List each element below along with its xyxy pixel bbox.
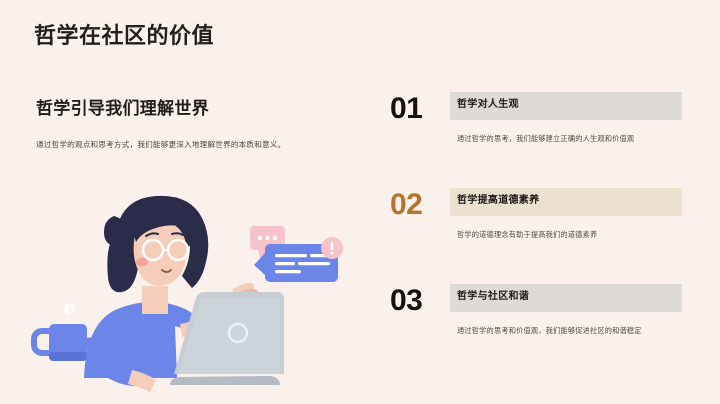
list-item[interactable]: 02 哲学提高道德素养 哲学的道德理念有助于提高我们的道德素养 (388, 188, 688, 284)
item-description: 哲学的道德理念有助于提高我们的道德素养 (457, 229, 675, 242)
left-heading: 哲学引导我们理解世界 (36, 98, 366, 121)
chat-bubble-group (250, 226, 343, 282)
left-body-text: 通过哲学的观点和思考方式，我们能够更深入地理解世界的本质和意义。 (36, 139, 366, 152)
slide-canvas: 哲学在社区的价值 哲学引导我们理解世界 通过哲学的观点和思考方式，我们能够更深入… (0, 0, 720, 404)
item-title: 哲学提高道德素养 (457, 195, 539, 207)
item-title: 哲学对人生观 (457, 99, 519, 111)
numbered-items-list: 01 哲学对人生观 通过哲学的思考，我们能够建立正确的人生观和价值观 02 哲学… (388, 92, 688, 380)
alert-badge-icon (321, 237, 343, 259)
left-content-column: 哲学引导我们理解世界 通过哲学的观点和思考方式，我们能够更深入地理解世界的本质和… (36, 98, 366, 152)
illustration-woman-at-laptop (22, 178, 367, 400)
item-description: 通过哲学的思考和价值观，我们能够促进社区的和谐稳定 (457, 325, 675, 338)
coffee-mug-icon (34, 302, 87, 361)
item-number: 03 (390, 286, 422, 316)
item-number: 01 (390, 94, 422, 124)
item-title: 哲学与社区和谐 (457, 291, 529, 303)
item-number: 02 (390, 190, 422, 220)
page-title: 哲学在社区的价值 (34, 22, 214, 51)
list-item[interactable]: 03 哲学与社区和谐 通过哲学的思考和价值观，我们能够促进社区的和谐稳定 (388, 284, 688, 380)
item-description: 通过哲学的思考，我们能够建立正确的人生观和价值观 (457, 133, 675, 146)
laptop-icon (170, 292, 284, 385)
list-item[interactable]: 01 哲学对人生观 通过哲学的思考，我们能够建立正确的人生观和价值观 (388, 92, 688, 188)
